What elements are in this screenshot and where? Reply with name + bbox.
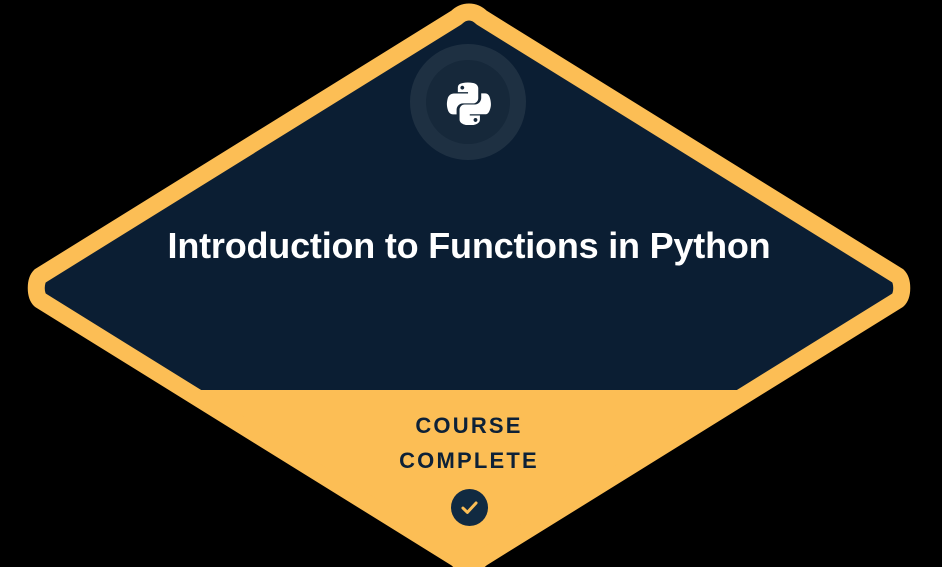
diamond-upper-fill: [0, 0, 942, 390]
diamond-badge-graphic: [0, 0, 942, 567]
course-completion-badge: Introduction to Functions in Python COUR…: [0, 0, 942, 567]
